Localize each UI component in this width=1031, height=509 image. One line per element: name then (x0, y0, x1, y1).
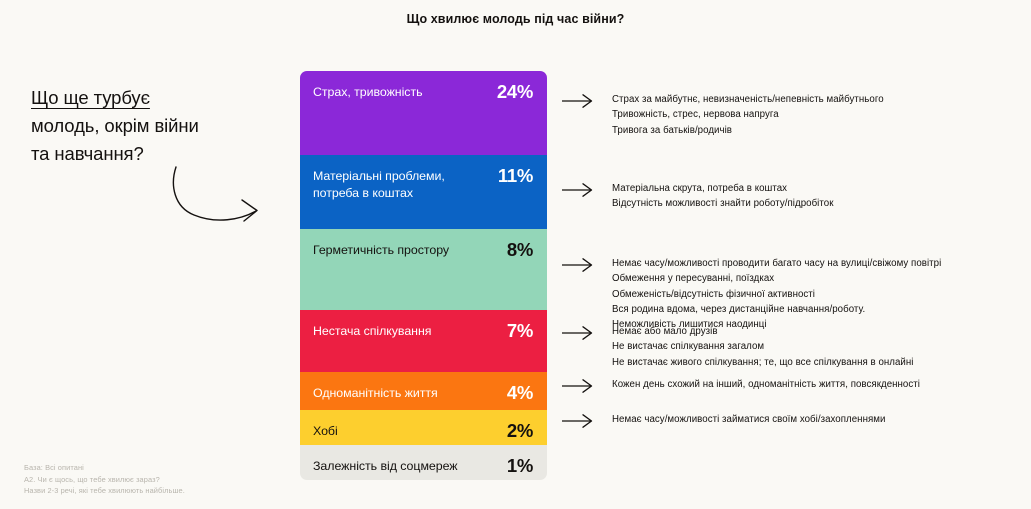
annotation-row: Немає або мало друзівНе вистачає спілкув… (562, 324, 913, 370)
annotation-row: Немає часу/можливості займатися своїм хо… (562, 412, 885, 433)
curved-arrow-icon (168, 163, 273, 233)
annotation-line: Не вистачає спілкування загалом (612, 339, 913, 354)
page-title: Що хвилює молодь під час війни? (0, 12, 1031, 26)
annotation-line: Відсутність можливості знайти роботу/під… (612, 196, 834, 211)
left-question-block: Що ще турбує молодь, окрім війни та навч… (31, 84, 281, 168)
bar-segment[interactable]: Одноманітність життя4% (300, 372, 547, 410)
bar-segment-value: 2% (507, 422, 533, 440)
bar-segment-label: Страх, тривожність (313, 84, 422, 101)
annotation-text: Немає часу/можливості займатися своїм хо… (612, 412, 885, 427)
annotation-text: Немає часу/можливості проводити багато ч… (612, 256, 941, 332)
bar-segment-label: Одноманітність життя (313, 385, 438, 402)
footer-line-2: А2. Чи є щось, що тебе хвилює зараз? (24, 474, 185, 486)
bar-segment-label: Залежність від соцмереж (313, 458, 458, 475)
annotation-line: Немає часу/можливості займатися своїм хо… (612, 412, 885, 427)
question-line-1: Що ще турбує (31, 84, 281, 112)
question-line-2: молодь, окрім війни (31, 112, 281, 140)
arrow-right-icon (562, 183, 594, 202)
annotation-text: Матеріальна скрута, потреба в коштахВідс… (612, 181, 834, 212)
footer-line-1: База: Всі опитані (24, 462, 185, 474)
bar-segment-label: Нестача спілкування (313, 323, 431, 340)
bar-segment-value: 8% (507, 241, 533, 259)
bar-segment[interactable]: Страх, тривожність24% (300, 71, 547, 155)
annotation-text: Страх за майбутнє, невизначеність/непевн… (612, 92, 884, 138)
bar-segment-value: 4% (507, 384, 533, 402)
annotation-row: Кожен день схожий на інший, одноманітніс… (562, 377, 920, 398)
bar-segment-value: 24% (497, 83, 533, 101)
bar-segment[interactable]: Матеріальні проблеми,потреба в коштах11% (300, 155, 547, 229)
bar-segment[interactable]: Хобі2% (300, 410, 547, 445)
annotation-text: Кожен день схожий на інший, одноманітніс… (612, 377, 920, 392)
arrow-right-icon (562, 379, 594, 398)
bar-segment[interactable]: Нестача спілкування7% (300, 310, 547, 372)
bar-segment[interactable]: Герметичність простору8% (300, 229, 547, 310)
annotation-line: Немає або мало друзів (612, 324, 913, 339)
bar-segment-value: 7% (507, 322, 533, 340)
arrow-right-icon (562, 258, 594, 277)
annotation-line: Кожен день схожий на інший, одноманітніс… (612, 377, 920, 392)
footer-note: База: Всі опитані А2. Чи є щось, що тебе… (24, 462, 185, 497)
annotation-row: Страх за майбутнє, невизначеність/непевн… (562, 92, 884, 138)
footer-line-3: Назви 2-3 речі, які тебе хвилюють найбіл… (24, 485, 185, 497)
annotation-line: Вся родина вдома, через дистанційне навч… (612, 302, 941, 317)
annotation-line: Страх за майбутнє, невизначеність/непевн… (612, 92, 884, 107)
annotation-line: Обмеження у пересуванні, поїздках (612, 271, 941, 286)
bar-segment-value: 11% (498, 167, 533, 185)
annotation-row: Немає часу/можливості проводити багато ч… (562, 256, 941, 332)
annotation-row: Матеріальна скрута, потреба в коштахВідс… (562, 181, 834, 212)
annotation-line: Тривога за батьків/родичів (612, 123, 884, 138)
bar-segment-label: Матеріальні проблеми,потреба в коштах (313, 168, 445, 202)
annotation-line: Не вистачає живого спілкування; те, що в… (612, 355, 913, 370)
annotation-text: Немає або мало друзівНе вистачає спілкув… (612, 324, 913, 370)
arrow-right-icon (562, 94, 594, 113)
bar-segment-label: Герметичність простору (313, 242, 449, 259)
bar-segment-label: Хобі (313, 423, 338, 440)
bar-segment[interactable]: Залежність від соцмереж1% (300, 445, 547, 480)
arrow-right-icon (562, 414, 594, 433)
stacked-bar-chart: Страх, тривожність24%Матеріальні проблем… (300, 71, 547, 480)
arrow-right-icon (562, 326, 594, 345)
bar-segment-value: 1% (507, 457, 533, 475)
annotation-line: Обмеженість/відсутність фізичної активно… (612, 287, 941, 302)
annotation-line: Немає часу/можливості проводити багато ч… (612, 256, 941, 271)
annotation-line: Матеріальна скрута, потреба в коштах (612, 181, 834, 196)
annotation-line: Тривожність, стрес, нервова напруга (612, 107, 884, 122)
